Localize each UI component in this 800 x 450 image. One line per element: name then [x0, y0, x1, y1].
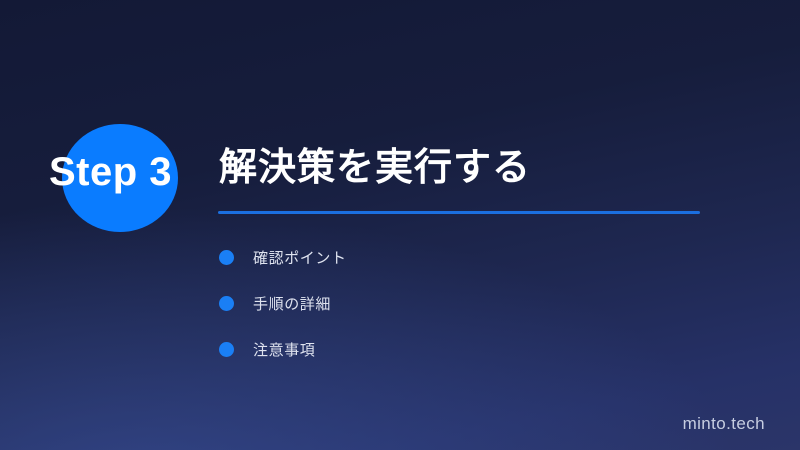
bullet-list: 確認ポイント 手順の詳細 注意事項 [219, 234, 699, 372]
list-item-label: 確認ポイント [253, 247, 347, 268]
step-badge-label: Step 3 [49, 152, 172, 192]
list-item: 確認ポイント [219, 234, 699, 280]
list-item: 手順の詳細 [219, 280, 699, 326]
footer-watermark: minto.tech [683, 414, 765, 434]
list-item-label: 手順の詳細 [253, 293, 331, 314]
list-item: 注意事項 [219, 326, 699, 372]
bullet-dot-icon [219, 342, 234, 357]
slide-canvas: Step 3 解決策を実行する 確認ポイント 手順の詳細 注意事項 minto.… [0, 0, 800, 450]
list-item-label: 注意事項 [253, 339, 315, 360]
bullet-dot-icon [219, 250, 234, 265]
bullet-dot-icon [219, 296, 234, 311]
title-divider [218, 211, 700, 214]
page-title: 解決策を実行する [219, 148, 531, 190]
